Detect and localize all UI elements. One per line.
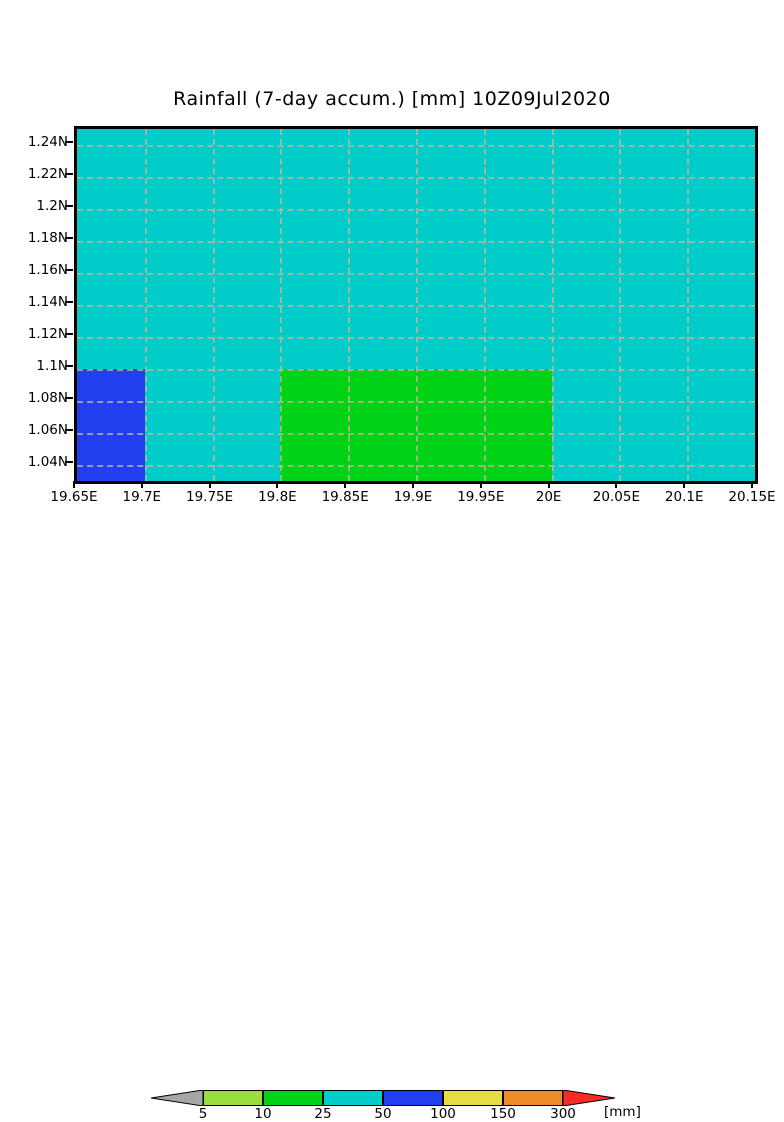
gridline-horizontal (77, 401, 755, 403)
x-axis-tick (480, 481, 482, 488)
colorbar-segment-25-50 (323, 1090, 383, 1106)
gridline-horizontal (77, 305, 755, 307)
y-axis-tick-label: 1.12N (8, 326, 68, 342)
x-axis-tick-label: 19.65E (50, 489, 97, 505)
x-axis-tick-label: 19.8E (258, 489, 297, 505)
y-axis-tick-label: 1.16N (8, 262, 68, 278)
y-axis-tick-label: 1.04N (8, 454, 68, 470)
x-axis-tick (615, 481, 617, 488)
gridline-horizontal (77, 273, 755, 275)
x-axis-tick (73, 481, 75, 488)
colorbar-tick-label: 50 (374, 1106, 391, 1122)
x-axis-tick-label: 20E (536, 489, 562, 505)
colorbar: 5102550100150300 [mm] (0, 540, 784, 590)
colorbar-segment-50-100 (383, 1090, 443, 1106)
x-axis-tick (209, 481, 211, 488)
colorbar-segment-5-10 (203, 1090, 263, 1106)
colorbar-segment-150-300 (503, 1090, 563, 1106)
chart-canvas: Rainfall (7-day accum.) [mm] 10Z09Jul202… (0, 0, 784, 612)
plot-area (74, 126, 758, 484)
x-axis-tick-label: 19.9E (394, 489, 433, 505)
x-axis-tick (344, 481, 346, 488)
colorbar-segment-10-25 (263, 1090, 323, 1106)
x-axis-tick (276, 481, 278, 488)
x-axis-tick (548, 481, 550, 488)
y-axis-tick-label: 1.18N (8, 230, 68, 246)
x-axis-tick-label: 19.85E (322, 489, 369, 505)
colorbar-segment-100-150 (443, 1090, 503, 1106)
x-axis-tick (141, 481, 143, 488)
x-axis-tick-label: 19.75E (186, 489, 233, 505)
colorbar-tick-label: 150 (490, 1106, 516, 1122)
y-axis-tick-label: 1.14N (8, 294, 68, 310)
gridline-horizontal (77, 465, 755, 467)
x-axis-tick-label: 19.95E (457, 489, 504, 505)
gridline-horizontal (77, 145, 755, 147)
plot-inner (77, 129, 755, 481)
y-axis-tick-label: 1.1N (8, 358, 68, 374)
gridline-horizontal (77, 177, 755, 179)
y-axis-tick-label: 1.2N (8, 198, 68, 214)
y-axis-tick-label: 1.08N (8, 390, 68, 406)
x-axis-tick-label: 19.7E (123, 489, 162, 505)
x-axis-tick (412, 481, 414, 488)
colorbar-tick-label: 10 (254, 1106, 271, 1122)
x-axis-tick (683, 481, 685, 488)
gridline-horizontal (77, 369, 755, 371)
colorbar-tick-label: 5 (199, 1106, 208, 1122)
colorbar-unit-label: [mm] (604, 1104, 641, 1120)
colorbar-tick-label: 300 (550, 1106, 576, 1122)
colorbar-arrow-left (151, 1090, 203, 1106)
colorbar-tick-label: 25 (314, 1106, 331, 1122)
x-axis-tick-label: 20.05E (593, 489, 640, 505)
colorbar-tick-label: 100 (430, 1106, 456, 1122)
gridline-horizontal (77, 241, 755, 243)
x-axis-tick (751, 481, 753, 488)
gridline-horizontal (77, 209, 755, 211)
chart-title: Rainfall (7-day accum.) [mm] 10Z09Jul202… (0, 88, 784, 110)
x-axis-tick-label: 20.1E (665, 489, 704, 505)
y-axis-tick-label: 1.06N (8, 422, 68, 438)
gridline-horizontal (77, 433, 755, 435)
y-axis-tick-label: 1.24N (8, 134, 68, 150)
gridline-horizontal (77, 337, 755, 339)
y-axis-tick-label: 1.22N (8, 166, 68, 182)
x-axis-tick-label: 20.15E (728, 489, 775, 505)
